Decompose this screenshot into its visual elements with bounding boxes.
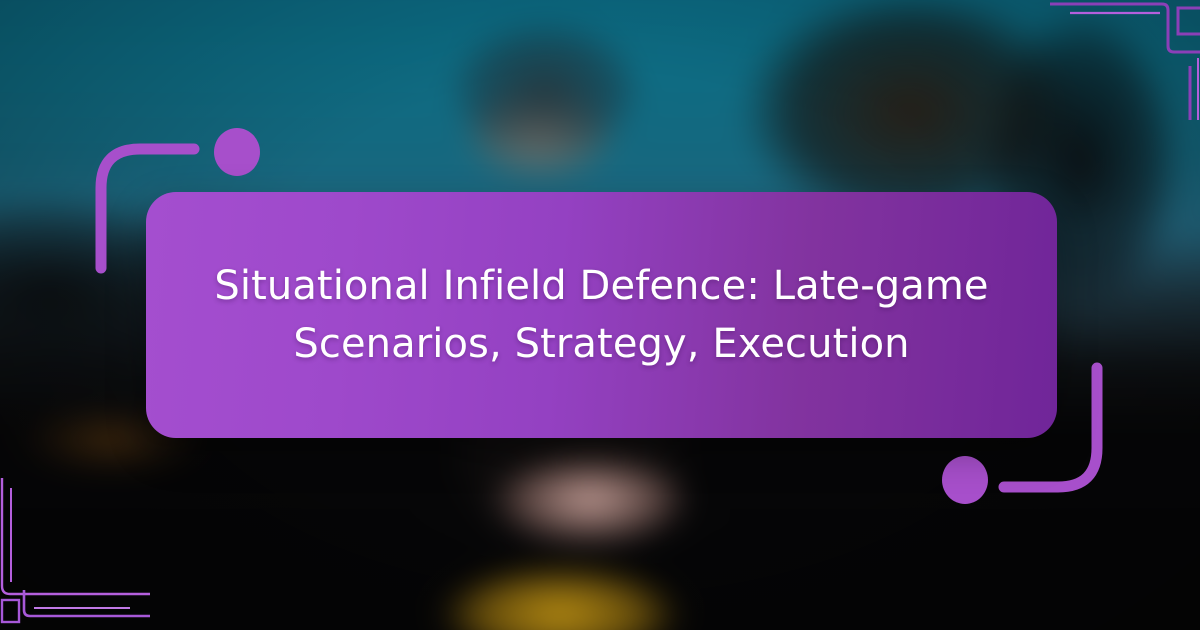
page-title-line-1: Situational Infield Defence: Late-game [214,263,988,309]
page-title-line-2: Scenarios, Strategy, Execution [293,321,909,367]
share-card-canvas: Situational Infield Defence: Late-game S… [0,0,1200,630]
title-card: Situational Infield Defence: Late-game S… [146,192,1057,438]
dot-top-left-icon [214,128,260,176]
page-title: Situational Infield Defence: Late-game S… [214,257,988,373]
dot-bottom-right-icon [942,456,988,504]
